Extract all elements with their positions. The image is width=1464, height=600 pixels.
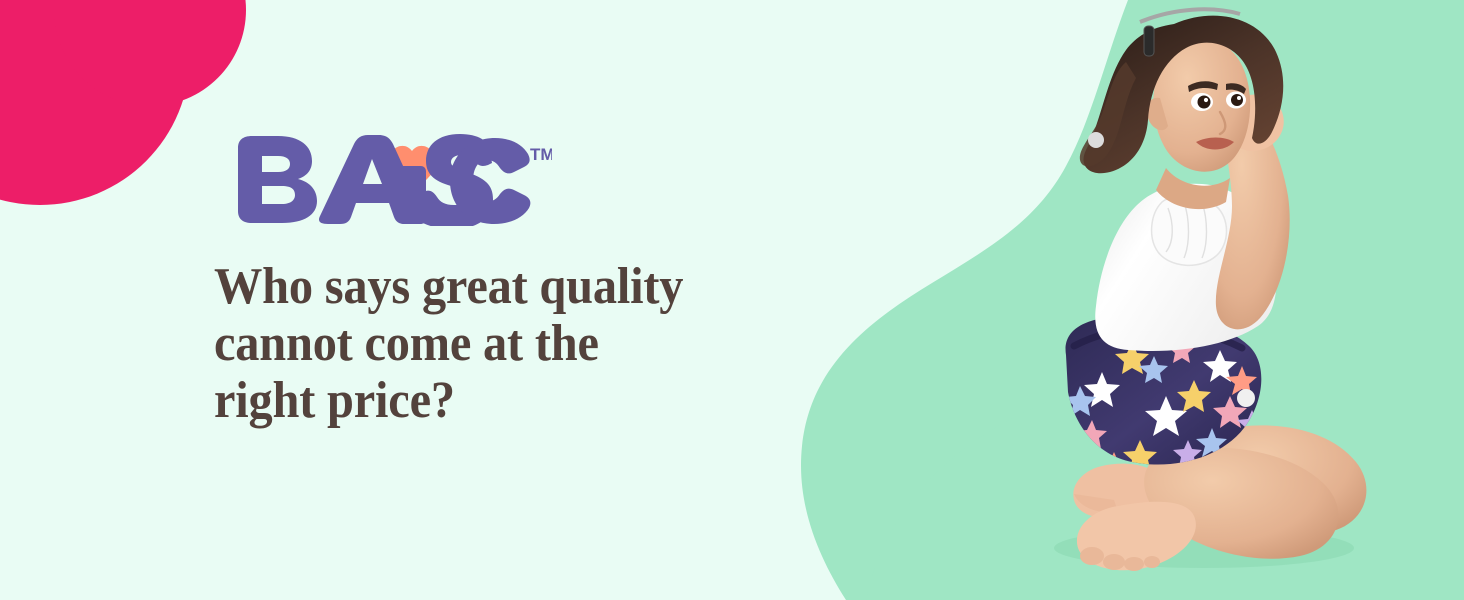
logo-letter-b (238, 136, 317, 223)
logo-letter-i (398, 166, 426, 224)
headline-line-2: cannot come at the (214, 315, 809, 372)
promotional-banner: TM Who says great quality cannot come at… (0, 0, 1464, 600)
headline-line-3: right price? (214, 372, 809, 429)
brand-logo: TM (232, 118, 552, 226)
logo-letter-c (450, 138, 530, 224)
child-photo (1044, 0, 1464, 600)
headline-line-1: Who says great quality (214, 258, 809, 315)
headline: Who says great quality cannot come at th… (214, 258, 809, 429)
child-photo-svg (1044, 0, 1464, 600)
diaper-snap-button (1237, 389, 1255, 407)
trademark-symbol: TM (530, 145, 552, 164)
brand-logo-svg: TM (232, 118, 552, 226)
hair-clip-bead (1088, 132, 1104, 148)
